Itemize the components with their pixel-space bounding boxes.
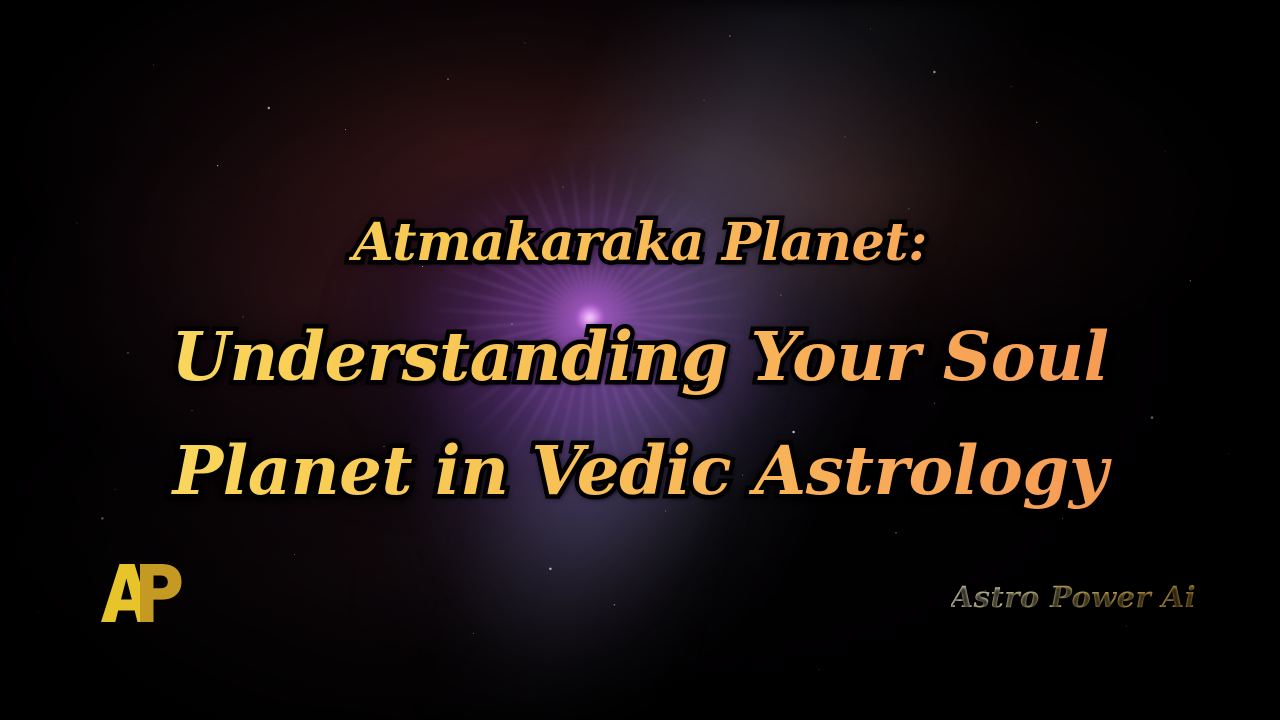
logo-ap-monogram	[96, 562, 188, 624]
title-slide: Atmakaraka Planet: Atmakaraka Planet: Un…	[0, 0, 1280, 720]
title-line-1: Atmakaraka Planet: Atmakaraka Planet:	[0, 186, 1280, 300]
logo-letter-p	[140, 564, 182, 622]
title-line-2-text: Understanding Your Soul	[0, 300, 1280, 414]
brand-wordmark: Astro Power Ai	[951, 580, 1196, 614]
title-line-1-text: Atmakaraka Planet:	[0, 186, 1280, 300]
page-title: Atmakaraka Planet: Atmakaraka Planet: Un…	[0, 186, 1280, 528]
title-line-2: Understanding Your Soul Understanding Yo…	[0, 300, 1280, 414]
ap-logo-icon	[96, 562, 188, 624]
title-line-3: Planet in Vedic Astrology Planet in Vedi…	[0, 414, 1280, 528]
title-line-3-text: Planet in Vedic Astrology	[0, 414, 1280, 528]
